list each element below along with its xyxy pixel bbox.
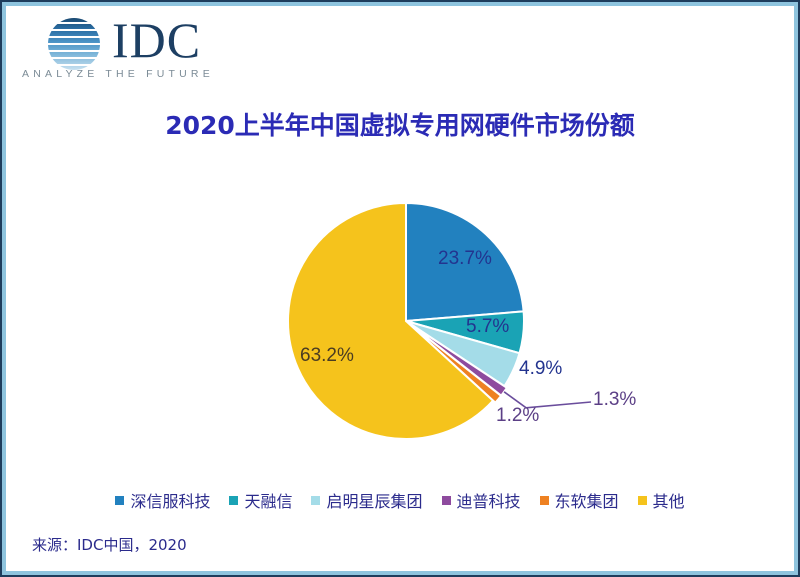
legend-item-label: 东软集团 xyxy=(555,488,619,512)
legend-item-label: 其他 xyxy=(653,488,685,512)
chart-canvas: IDC ANALYZE THE FUTURE 2020上半年中国虚拟专用网硬件市… xyxy=(6,6,794,571)
legend-swatch-icon xyxy=(229,496,238,505)
legend-swatch-icon xyxy=(311,496,320,505)
legend-item-label: 深信服科技 xyxy=(130,488,210,512)
source-note: 来源：IDC中国，2020 xyxy=(32,534,187,555)
legend-swatch-icon xyxy=(115,496,124,505)
pie-svg xyxy=(6,166,794,476)
legend-item-label: 迪普科技 xyxy=(457,488,521,512)
pie-chart: 23.7% 5.7% 4.9% 1.3% 1.2% 63.2% xyxy=(6,166,794,476)
legend-item[interactable]: 深信服科技 xyxy=(115,488,210,512)
logo-wordmark: IDC xyxy=(112,12,201,68)
chart-page: IDC ANALYZE THE FUTURE 2020上半年中国虚拟专用网硬件市… xyxy=(0,0,800,577)
legend-item-label: 天融信 xyxy=(244,488,292,512)
slice-label-qimingxingchen: 4.9% xyxy=(519,358,562,380)
legend-item[interactable]: 迪普科技 xyxy=(442,488,521,512)
slice-label-dipu: 1.3% xyxy=(593,389,636,411)
slice-label-shenxinfu: 23.7% xyxy=(438,248,492,270)
slice-label-tianrongxin: 5.7% xyxy=(466,316,509,338)
chart-legend: 深信服科技天融信启明星辰集团迪普科技东软集团其他 xyxy=(6,488,794,512)
legend-item[interactable]: 其他 xyxy=(638,488,685,512)
legend-item[interactable]: 东软集团 xyxy=(540,488,619,512)
logo-tagline: ANALYZE THE FUTURE xyxy=(22,68,214,80)
slice-label-others: 63.2% xyxy=(300,345,354,367)
legend-swatch-icon xyxy=(540,496,549,505)
legend-swatch-icon xyxy=(442,496,451,505)
legend-swatch-icon xyxy=(638,496,647,505)
slice-label-neusoft: 1.2% xyxy=(496,405,539,427)
idc-logo: IDC ANALYZE THE FUTURE xyxy=(20,16,210,82)
legend-item[interactable]: 启明星辰集团 xyxy=(311,488,422,512)
legend-item-label: 启明星辰集团 xyxy=(326,488,422,512)
chart-title: 2020上半年中国虚拟专用网硬件市场份额 xyxy=(6,106,794,142)
legend-item[interactable]: 天融信 xyxy=(229,488,292,512)
